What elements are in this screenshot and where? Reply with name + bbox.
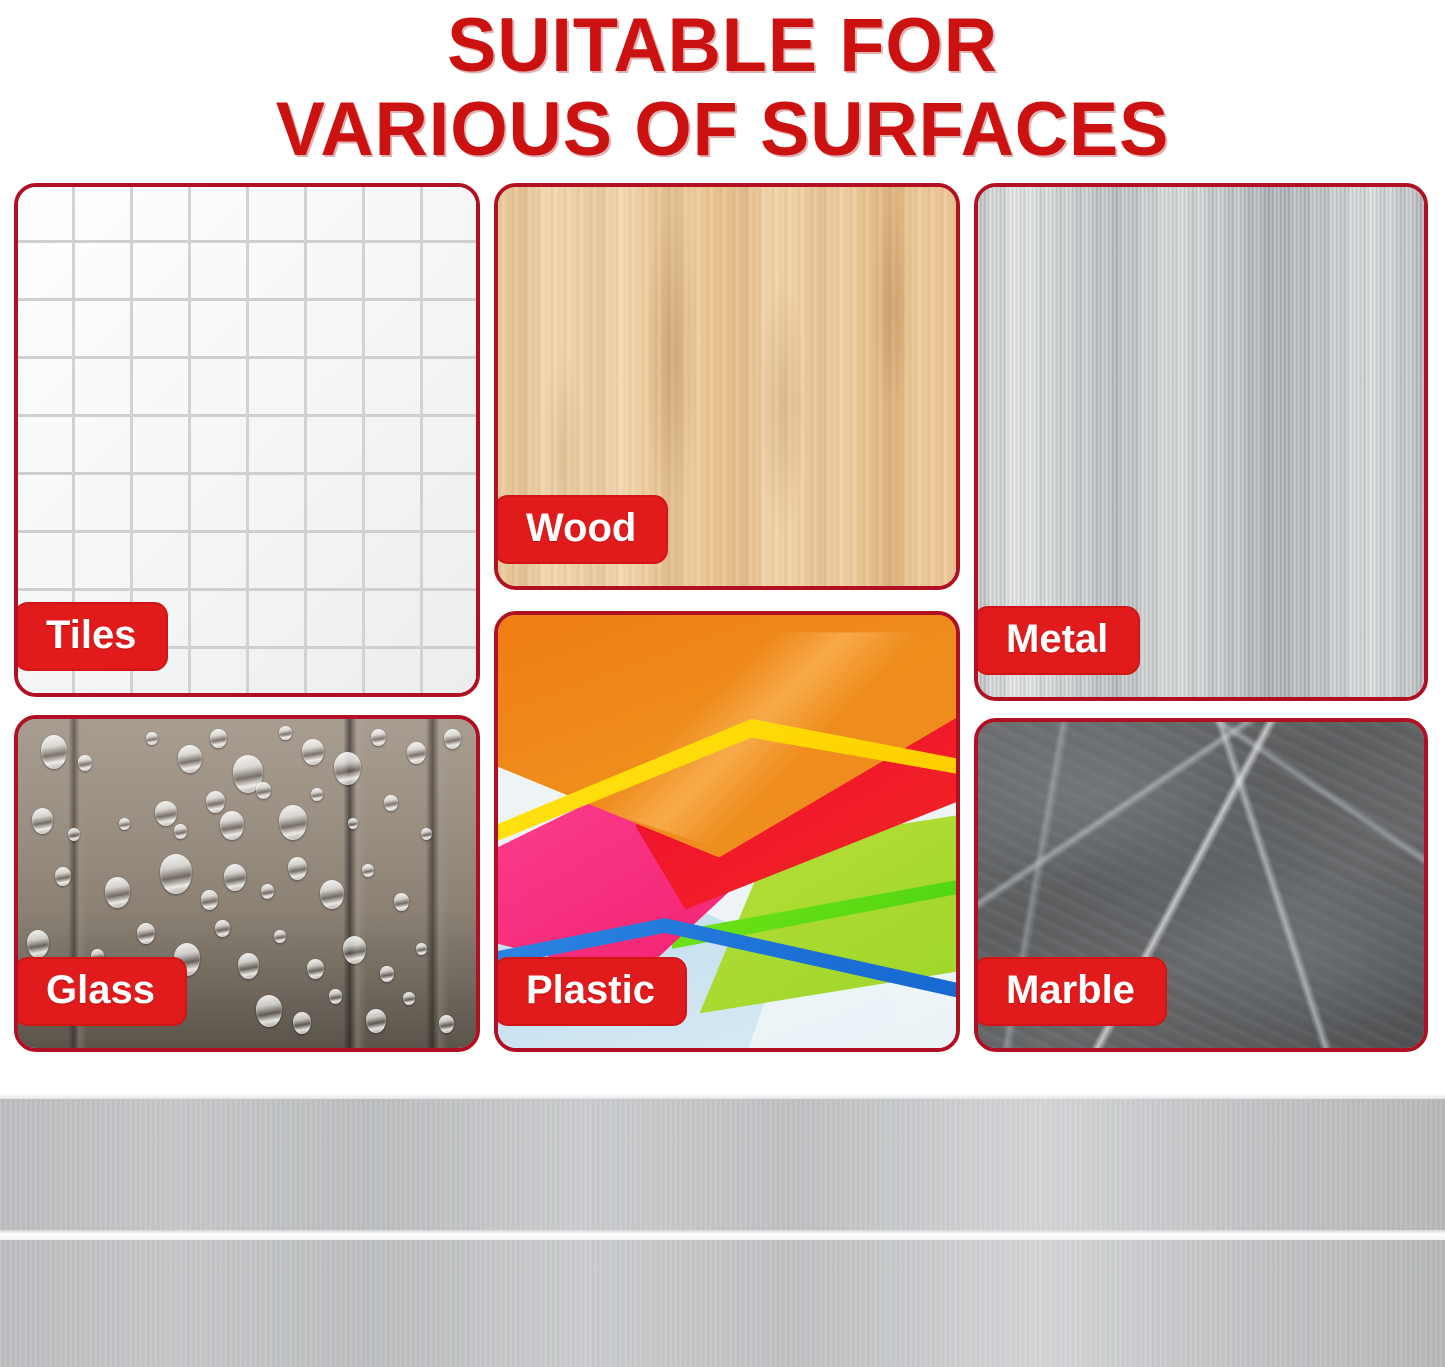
panel-band-upper xyxy=(0,1099,1445,1230)
surface-label-tiles: Tiles xyxy=(14,602,168,671)
bottom-metal-panel xyxy=(0,1093,1445,1367)
surface-label-metal: Metal xyxy=(974,606,1140,675)
surface-label-glass: Glass xyxy=(14,957,187,1026)
surface-card-grid: Tiles Wood Metal xyxy=(14,183,1428,1063)
surface-card-wood: Wood xyxy=(494,183,960,590)
surface-label-plastic: Plastic xyxy=(494,957,687,1026)
surface-card-tiles: Tiles xyxy=(14,183,480,697)
surface-card-plastic: Plastic xyxy=(494,611,960,1052)
panel-band-lower xyxy=(0,1240,1445,1367)
panel-divider-edge xyxy=(0,1230,1445,1240)
surface-label-marble: Marble xyxy=(974,957,1167,1026)
surface-card-marble: Marble xyxy=(974,718,1428,1052)
surface-label-wood: Wood xyxy=(494,495,668,564)
page-title: SUITABLE FOR VARIOUS OF SURFACES xyxy=(0,0,1445,175)
title-line-2: VARIOUS OF SURFACES xyxy=(22,88,1424,172)
surface-card-glass: Glass xyxy=(14,715,480,1052)
surface-card-metal: Metal xyxy=(974,183,1428,701)
title-line-1: SUITABLE FOR xyxy=(22,4,1424,88)
